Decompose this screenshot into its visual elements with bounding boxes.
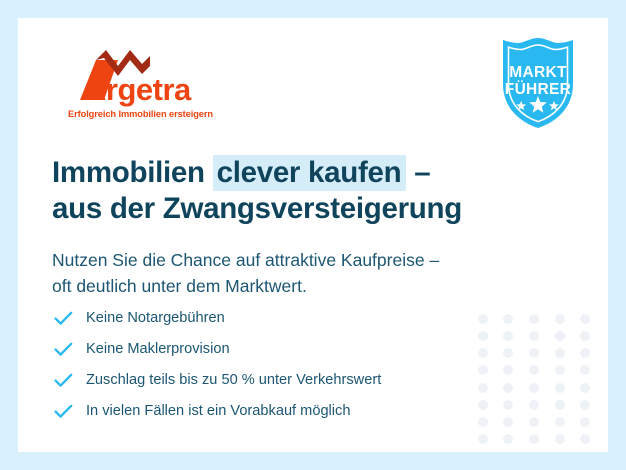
dot	[555, 331, 565, 341]
subheading-line-2: oft deutlich unter dem Marktwert.	[52, 273, 552, 300]
benefit-label: Keine Maklerprovision	[86, 342, 230, 357]
check-icon	[54, 373, 86, 388]
dot	[580, 365, 590, 375]
argetra-logo[interactable]: Argetra Erfolgreich Immobilien ersteiger…	[56, 44, 236, 124]
dot	[529, 365, 539, 375]
dot	[529, 348, 539, 358]
dot	[529, 331, 539, 341]
dot	[580, 434, 590, 444]
svg-text:Argetra: Argetra	[84, 72, 192, 107]
benefit-label: Keine Notargebühren	[86, 311, 225, 326]
check-icon	[54, 311, 86, 326]
svg-text:Erfolgreich Immobilien ersteig: Erfolgreich Immobilien ersteigern	[68, 109, 213, 119]
badge-line1: MARKT	[509, 64, 567, 81]
benefit-item: Keine Notargebühren	[54, 303, 524, 334]
dot	[529, 400, 539, 410]
dot	[529, 434, 539, 444]
subheading: Nutzen Sie die Chance auf attraktive Kau…	[52, 247, 552, 300]
dot	[580, 314, 590, 324]
dot	[580, 383, 590, 393]
headline-line1-before: Immobilien	[52, 156, 213, 189]
headline-line-1: Immobilien clever kaufen –	[52, 155, 572, 192]
benefits-list: Keine NotargebührenKeine Maklerprovision…	[54, 303, 524, 427]
dot	[529, 314, 539, 324]
dot	[580, 417, 590, 427]
dot	[555, 417, 565, 427]
check-icon	[54, 404, 86, 419]
dot	[555, 314, 565, 324]
dot	[555, 434, 565, 444]
benefit-label: Zuschlag teils bis zu 50 % unter Verkehr…	[86, 373, 381, 388]
banner-card: Argetra Erfolgreich Immobilien ersteiger…	[18, 18, 608, 452]
shield-badge-icon: MARKT FÜHRER	[490, 32, 586, 132]
benefit-item: Zuschlag teils bis zu 50 % unter Verkehr…	[54, 365, 524, 396]
dot	[478, 434, 488, 444]
dot	[529, 417, 539, 427]
dot	[555, 400, 565, 410]
benefit-item: In vielen Fällen ist ein Vorabkauf mögli…	[54, 396, 524, 427]
markt-fuehrer-badge[interactable]: MARKT FÜHRER	[490, 32, 586, 132]
dot	[580, 331, 590, 341]
subheading-line-1: Nutzen Sie die Chance auf attraktive Kau…	[52, 247, 552, 274]
dot	[580, 400, 590, 410]
dot	[555, 365, 565, 375]
dot	[580, 348, 590, 358]
headline-line1-after: –	[406, 156, 430, 189]
headline-highlight: clever kaufen	[213, 155, 407, 191]
argetra-logo-icon: Argetra Erfolgreich Immobilien ersteiger…	[56, 44, 236, 124]
advertisement-banner[interactable]: Argetra Erfolgreich Immobilien ersteiger…	[0, 0, 626, 470]
benefit-label: In vielen Fällen ist ein Vorabkauf mögli…	[86, 404, 350, 419]
dot	[529, 383, 539, 393]
benefit-item: Keine Maklerprovision	[54, 334, 524, 365]
dot	[555, 383, 565, 393]
badge-line2: FÜHRER	[505, 81, 571, 98]
check-icon	[54, 342, 86, 357]
headline: Immobilien clever kaufen – aus der Zwang…	[52, 155, 572, 228]
headline-line-2: aus der Zwangsversteigerung	[52, 191, 572, 228]
dot	[555, 348, 565, 358]
dot	[503, 434, 513, 444]
